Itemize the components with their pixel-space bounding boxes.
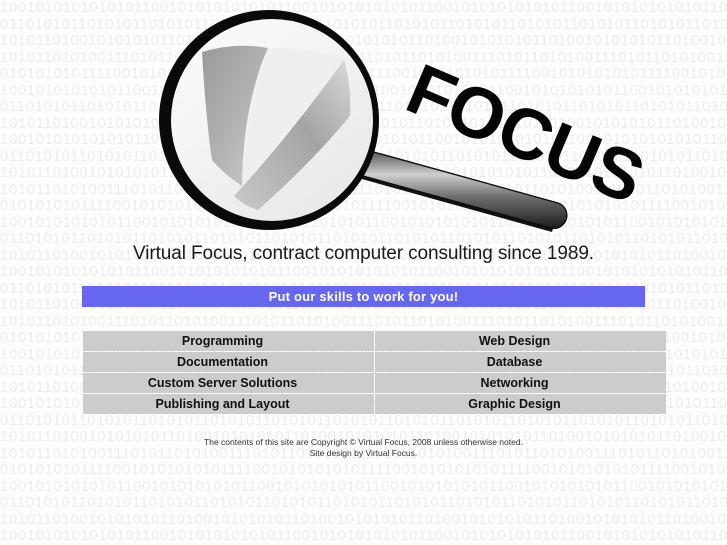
services-table: Programming Web Design Documentation Dat… — [82, 330, 667, 415]
service-cell[interactable]: Documentation — [83, 352, 374, 372]
cta-banner-label: Put our skills to work for you! — [269, 289, 459, 304]
service-cell[interactable]: Graphic Design — [375, 394, 666, 414]
service-cell[interactable]: Custom Server Solutions — [83, 373, 374, 393]
service-cell[interactable]: Programming — [83, 331, 374, 351]
service-cell[interactable]: Networking — [375, 373, 666, 393]
binary-row: 0110101011010101101010110101011010101101… — [0, 495, 727, 512]
footer-copyright-line: The contents of this site are Copyright … — [0, 437, 727, 448]
services-table-body: Programming Web Design Documentation Dat… — [83, 331, 666, 414]
footer-credit-line: Site design by Virtual Focus. — [0, 448, 727, 459]
site-logo: FOCUS — [0, 0, 727, 235]
binary-row: 1010110100101010101101001010101011010010… — [0, 512, 727, 529]
site-footer: The contents of this site are Copyright … — [0, 437, 727, 459]
table-row[interactable]: Documentation Database — [83, 352, 666, 372]
binary-row: 1001010101010101100101010101010110010101… — [0, 528, 727, 545]
table-row[interactable]: Programming Web Design — [83, 331, 666, 351]
service-cell[interactable]: Publishing and Layout — [83, 394, 374, 414]
service-cell[interactable]: Web Design — [375, 331, 666, 351]
service-cell[interactable]: Database — [375, 352, 666, 372]
cta-banner[interactable]: Put our skills to work for you! — [82, 286, 645, 307]
binary-row: 0101010101111001010101010111100101010101… — [0, 462, 727, 479]
binary-row: 1010110101001110101101010011101011010100… — [0, 314, 727, 331]
page-root: 1001010101010101100101010101010110010101… — [0, 0, 727, 545]
table-row[interactable]: Publishing and Layout Graphic Design — [83, 394, 666, 414]
table-row[interactable]: Custom Server Solutions Networking — [83, 373, 666, 393]
site-tagline: Virtual Focus, contract computer consult… — [0, 243, 727, 265]
magnifying-glass-logo: FOCUS — [0, 0, 727, 235]
binary-row: 1001010101010101100101010101010110010101… — [0, 264, 727, 281]
binary-row: 1001010101010110010101010101100101010101… — [0, 479, 727, 496]
